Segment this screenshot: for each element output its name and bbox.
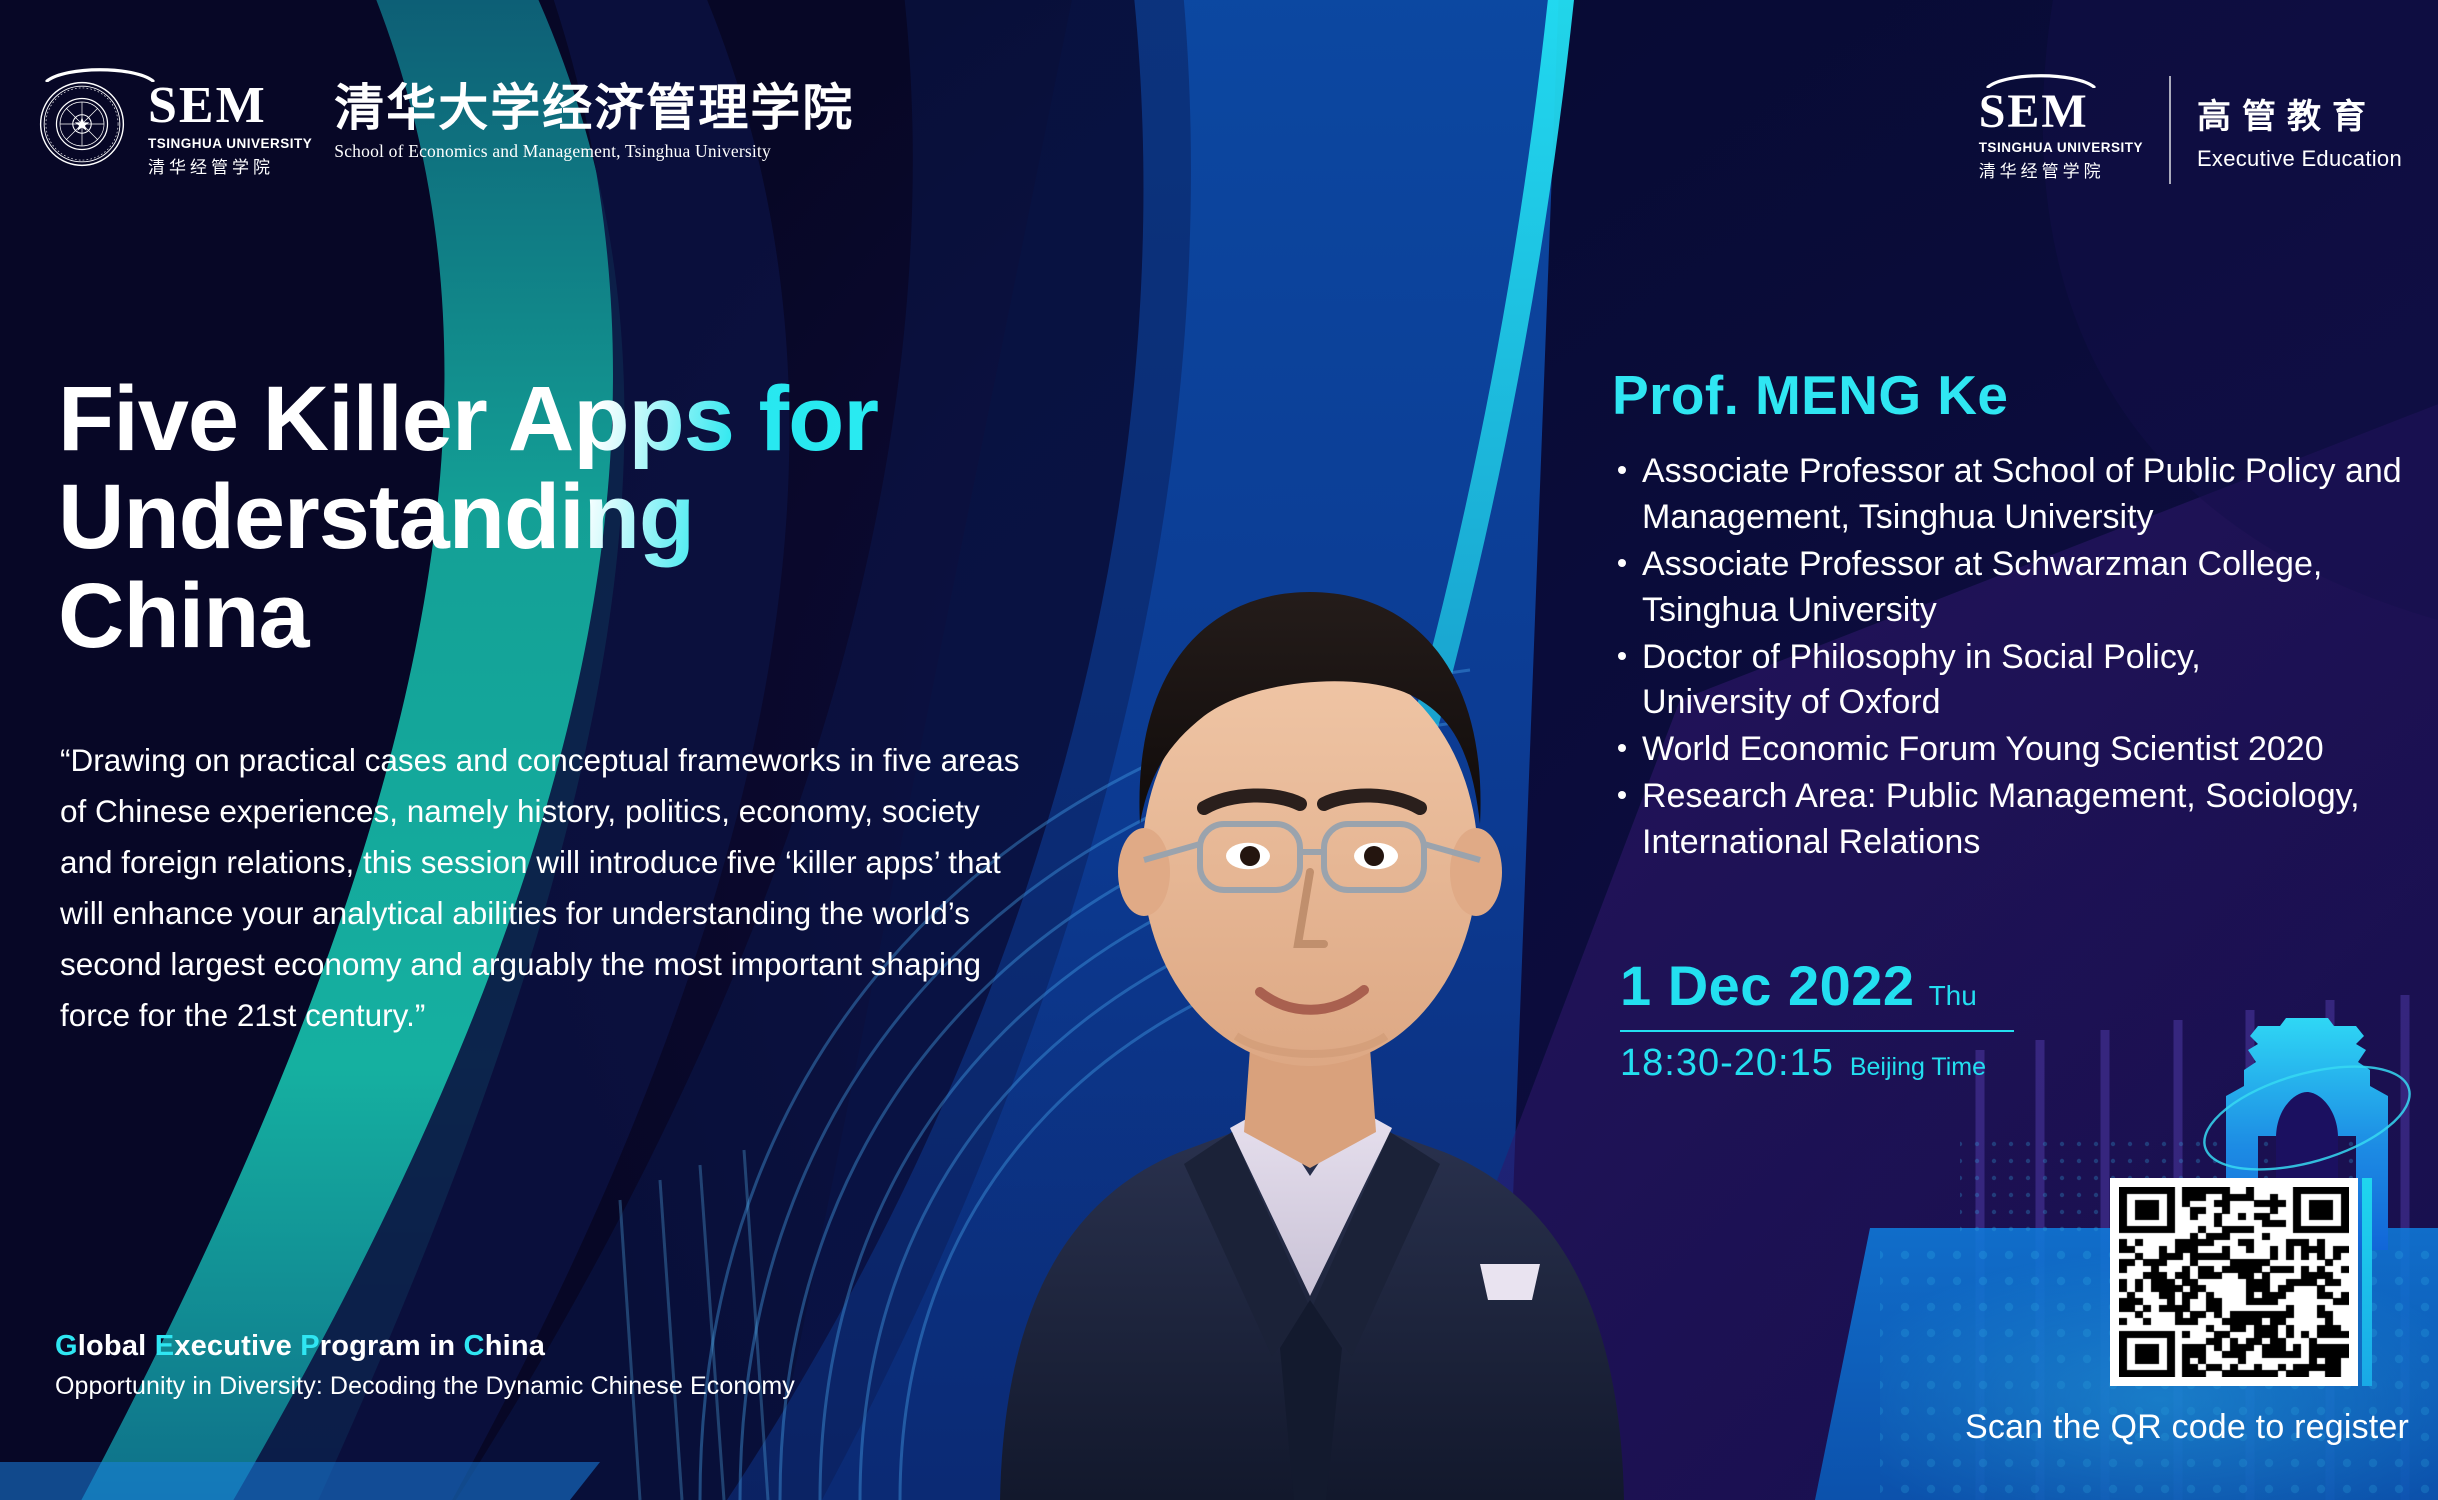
event-day-of-week: Thu [1929,980,1977,1012]
qr-accent-bar [2362,1178,2372,1386]
school-name-block: 清华大学经济管理学院 School of Economics and Manag… [334,82,854,166]
program-name-text: lobal [78,1330,155,1362]
datetime-divider [1620,1030,2014,1032]
speaker-name: Prof. MENG Ke [1612,368,2438,423]
list-item: World Economic Forum Young Scientist 202… [1612,727,2438,773]
list-item: Research Area: Public Management, Sociol… [1612,774,2438,866]
school-name-cn: 清华大学经济管理学院 [334,82,854,135]
program-tagline: Opportunity in Diversity: Decoding the D… [55,1372,1155,1401]
session-description: “Drawing on practical cases and conceptu… [60,735,1020,1041]
registration-qr-code[interactable] [2110,1178,2358,1386]
program-name: Global Executive Program in China [55,1330,1155,1363]
tsinghua-sem-logo-left: SEM TSINGHUA UNIVERSITY 清华经管学院 清华大学经济管理学… [38,70,854,178]
list-item: Doctor of Philosophy in Social Policy, U… [1612,635,2438,727]
sem-arc-icon [44,68,156,82]
event-date-row: 1 Dec 2022 Thu [1620,958,2180,1014]
speaker-credentials-list: Associate Professor at School of Public … [1612,449,2438,866]
executive-education-logo-right: SEM TSINGHUA UNIVERSITY 清华经管学院 高管教育 Exec… [1979,76,2402,184]
sem-sub-en-right: TSINGHUA UNIVERSITY [1979,140,2143,155]
event-time-row: 18:30-20:15 Beijing Time [1620,1044,2180,1082]
program-name-text: rogram in [320,1330,464,1362]
event-time: 18:30-20:15 [1620,1044,1834,1082]
speaker-info: Prof. MENG Ke Associate Professor at Sch… [1612,368,2438,867]
list-item: Associate Professor at School of Public … [1612,449,2438,541]
scan-instruction: Scan the QR code to register [1965,1408,2409,1447]
event-date: 1 Dec 2022 [1620,958,1915,1014]
sem-sub-cn-right: 清华经管学院 [1979,157,2105,182]
logo-divider [2169,76,2171,184]
event-datetime: 1 Dec 2022 Thu 18:30-20:15 Beijing Time [1620,958,2180,1082]
sem-acronym: SEM [148,70,267,132]
executive-education-en: Executive Education [2197,146,2402,172]
sem-arc-icon-right [1985,74,2097,88]
speaker-portrait [880,360,1740,1500]
event-timezone: Beijing Time [1850,1053,1986,1082]
poster-canvas: SEM TSINGHUA UNIVERSITY 清华经管学院 清华大学经济管理学… [0,0,2438,1500]
list-item: Associate Professor at Schwarzman Colleg… [1612,542,2438,634]
program-name-text: xecutive [174,1330,300,1362]
sem-sub-cn: 清华经管学院 [148,153,274,178]
registration-qr-block[interactable] [2110,1178,2358,1386]
program-name-initial: P [300,1330,320,1362]
program-footer: Global Executive Program in China Opport… [55,1330,1155,1401]
program-name-initial: C [464,1330,485,1362]
program-name-initial: G [55,1330,78,1362]
executive-education-block: 高管教育 Executive Education [2197,89,2402,172]
executive-education-cn: 高管教育 [2197,89,2402,138]
tsinghua-university-seal-icon [38,80,126,168]
program-name-text: hina [485,1330,545,1362]
sem-acronym-block: SEM TSINGHUA UNIVERSITY 清华经管学院 [148,70,312,178]
school-name-en: School of Economics and Management, Tsin… [334,141,854,162]
sem-acronym-block-right: SEM TSINGHUA UNIVERSITY 清华经管学院 [1979,78,2143,182]
program-name-initial: E [155,1330,175,1362]
sem-sub-en: TSINGHUA UNIVERSITY [148,136,312,151]
